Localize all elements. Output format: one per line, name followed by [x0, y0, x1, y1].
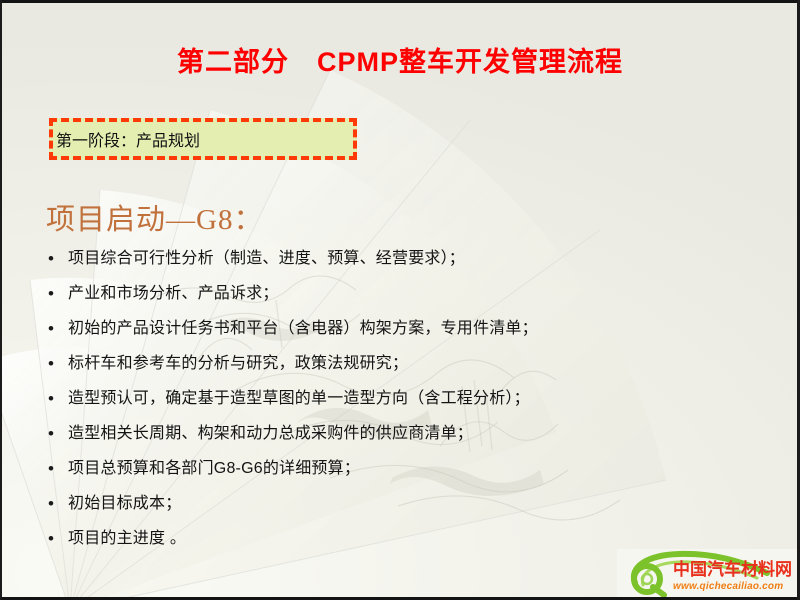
presentation-slide: 第二部分 CPMP整车开发管理流程 第一阶段：产品规划 项目启动—G8： • 项…: [0, 0, 800, 600]
list-item: • 项目综合可行性分析（制造、进度、预算、经营要求）；: [42, 246, 762, 281]
list-item: • 造型预认可，确定基于造型草图的单一造型方向（含工程分析）；: [42, 386, 762, 421]
list-item-text: 造型预认可，确定基于造型草图的单一造型方向（含工程分析）；: [68, 386, 530, 412]
list-item-text: 产业和市场分析、产品诉求；: [68, 281, 279, 307]
watermark-site-url: www.qichecailiao.com: [673, 581, 792, 592]
list-item-text: 项目总预算和各部门G8-G6的详细预算；: [68, 456, 360, 482]
list-item-text: 初始的产品设计任务书和平台（含电器）构架方案，专用件清单；: [68, 316, 538, 342]
slide-title: 第二部分 CPMP整车开发管理流程: [0, 40, 800, 79]
list-item-text: 项目综合可行性分析（制造、进度、预算、经营要求）；: [68, 246, 465, 272]
watermark-site-name: 中国汽车材料网: [673, 555, 792, 580]
list-item-text: 项目的主进度 。: [68, 526, 186, 552]
list-item: • 初始的产品设计任务书和平台（含电器）构架方案，专用件清单；: [42, 316, 762, 351]
list-item-text: 造型相关长周期、构架和动力总成采购件的供应商清单；: [68, 421, 473, 447]
list-item: • 项目总预算和各部门G8-G6的详细预算；: [42, 456, 762, 491]
bullet-marker-icon: •: [42, 421, 68, 447]
list-item-text: 初始目标成本；: [68, 491, 181, 517]
bullet-marker-icon: •: [42, 351, 68, 377]
list-item: • 初始目标成本；: [42, 491, 762, 526]
bullet-marker-icon: •: [42, 316, 68, 342]
slide-frame-top: [0, 0, 800, 3]
bullet-marker-icon: •: [42, 386, 68, 412]
bullet-marker-icon: •: [42, 281, 68, 307]
watermark-logo[interactable]: 中国汽车材料网 www.qichecailiao.com: [617, 549, 797, 597]
bullet-marker-icon: •: [42, 456, 68, 482]
slide-frame-left: [0, 0, 2, 600]
bullet-list: • 项目综合可行性分析（制造、进度、预算、经营要求）； • 产业和市场分析、产品…: [42, 246, 762, 561]
stage-callout-label: 第一阶段：产品规划: [53, 127, 200, 151]
bullet-marker-icon: •: [42, 526, 68, 552]
stage-callout-box: 第一阶段：产品规划: [49, 118, 357, 160]
bullet-marker-icon: •: [42, 491, 68, 517]
bullet-marker-icon: •: [42, 246, 68, 272]
list-item: • 造型相关长周期、构架和动力总成采购件的供应商清单；: [42, 421, 762, 456]
list-item: • 产业和市场分析、产品诉求；: [42, 281, 762, 316]
list-item: • 标杆车和参考车的分析与研究，政策法规研究；: [42, 351, 762, 386]
list-item-text: 标杆车和参考车的分析与研究，政策法规研究；: [68, 351, 408, 377]
section-heading: 项目启动—G8：: [46, 196, 263, 238]
watermark-text: 中国汽车材料网 www.qichecailiao.com: [673, 555, 792, 592]
